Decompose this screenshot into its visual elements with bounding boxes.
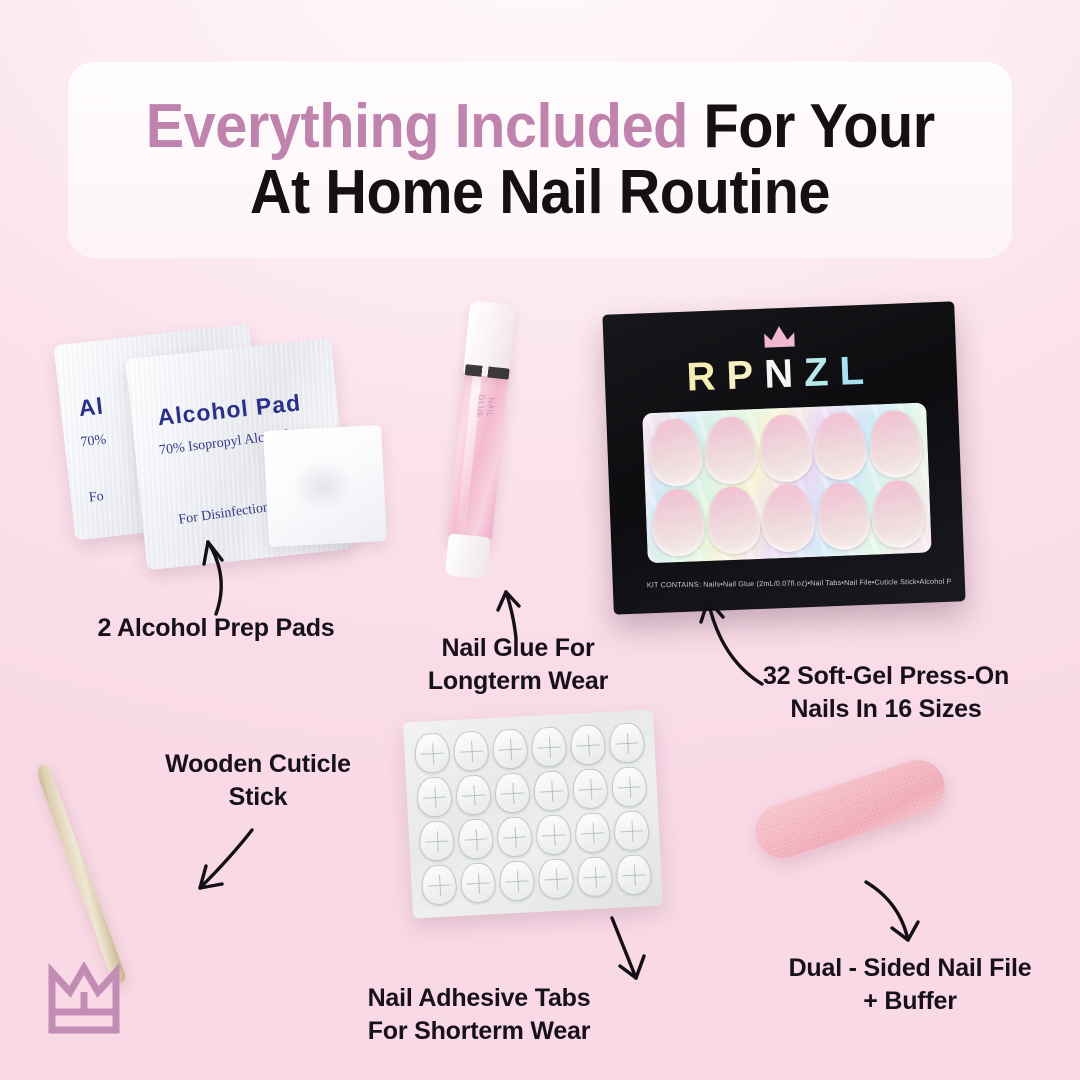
title-accent-text: Everything Included — [146, 92, 688, 161]
press-on-nail-grid — [648, 410, 925, 556]
packet-back-title: Al — [77, 393, 105, 423]
adhesive-tab — [414, 732, 451, 774]
brand-letter-p: P — [726, 353, 765, 398]
press-on-nail — [762, 484, 814, 551]
caption-nail-file: Dual - Sided Nail File + Buffer — [760, 952, 1060, 1018]
packet-back-subtitle: 70% — [80, 432, 107, 451]
adhesive-tab — [460, 862, 497, 904]
packet-back-usage: Fo — [88, 489, 105, 507]
adhesive-tab — [574, 812, 611, 854]
adhesive-tab — [416, 776, 453, 818]
box-crown-icon — [762, 323, 797, 353]
title-line-1: Everything Included For Your — [146, 94, 935, 160]
adhesive-tab — [455, 774, 492, 816]
rpnzl-product-box: RPNZL KIT CONTAINS: Nails•Nail Glue (2mL… — [602, 301, 965, 614]
press-on-nail — [867, 408, 925, 479]
press-on-nail — [647, 417, 705, 488]
title-rest-text: For Your — [688, 92, 935, 161]
box-kit-contents-text: KIT CONTAINS: Nails•Nail Glue (2mL/0.07f… — [647, 577, 951, 590]
adhesive-tab — [494, 772, 531, 814]
box-brand-name: RPNZL — [604, 345, 957, 403]
nail-adhesive-tab-sheet — [403, 710, 663, 919]
adhesive-tab — [576, 856, 613, 898]
caption-cuticle-stick: Wooden Cuticle Stick — [108, 748, 408, 814]
press-on-nail — [814, 480, 872, 551]
brand-letter-n: N — [763, 351, 805, 396]
rpnzl-crown-logo-icon — [46, 962, 122, 1039]
press-on-nail — [704, 484, 762, 555]
arrow-to-adhesive-tabs — [606, 916, 678, 992]
brand-letter-z: Z — [803, 350, 840, 395]
adhesive-tab — [569, 724, 606, 766]
adhesive-tab — [498, 860, 535, 902]
adhesive-tab — [611, 766, 648, 808]
adhesive-tab — [537, 858, 574, 900]
brand-letter-r: R — [686, 354, 728, 399]
nail-glue-pen: NAIL GLUE — [418, 296, 543, 585]
packet-title: Alcohol Pad — [156, 389, 302, 431]
adhesive-tab — [572, 768, 609, 810]
caption-alcohol-pads: 2 Alcohol Prep Pads — [56, 612, 376, 645]
title-line-2: At Home Nail Routine — [250, 160, 830, 226]
title-card: Everything Included For Your At Home Nai… — [68, 62, 1012, 258]
adhesive-tab — [533, 770, 570, 812]
glue-pen-base — [445, 533, 491, 579]
brand-letter-l: L — [839, 348, 876, 393]
arrow-to-nail-file — [862, 878, 934, 952]
press-on-nail — [652, 489, 704, 556]
adhesive-tab — [418, 820, 455, 862]
adhesive-tab — [608, 722, 645, 764]
adhesive-tab — [530, 726, 567, 768]
adhesive-tab — [535, 814, 572, 856]
glue-pen-body — [447, 356, 510, 546]
adhesive-tab — [615, 854, 652, 896]
adhesive-tab — [613, 810, 650, 852]
dual-sided-nail-file — [748, 753, 951, 865]
adhesive-tab-grid — [414, 722, 653, 906]
adhesive-tab — [492, 728, 529, 770]
caption-press-on-nails: 32 Soft-Gel Press-On Nails In 16 Sizes — [716, 660, 1056, 726]
holographic-nail-tray — [642, 403, 932, 564]
press-on-nail — [872, 480, 924, 547]
press-on-nail — [705, 417, 757, 484]
adhesive-tab — [496, 816, 533, 858]
glue-pen-side-text: NAIL GLUE — [472, 387, 497, 427]
infographic-canvas: Everything Included For Your At Home Nai… — [0, 0, 1080, 1080]
unwrapped-alcohol-pad — [263, 425, 387, 547]
caption-nail-glue: Nail Glue For Longterm Wear — [390, 632, 646, 698]
adhesive-tab — [421, 864, 458, 906]
adhesive-tab — [457, 818, 494, 860]
adhesive-tab — [453, 730, 490, 772]
alcohol-prep-pads-group: Al 70% Fo Alcohol Pad 70% Isopropyl Alco… — [58, 322, 378, 572]
caption-adhesive-tabs: Nail Adhesive Tabs For Shorterm Wear — [334, 982, 624, 1048]
arrow-to-cuticle-stick — [186, 826, 260, 902]
press-on-nail — [757, 413, 815, 484]
press-on-nail — [814, 413, 866, 480]
